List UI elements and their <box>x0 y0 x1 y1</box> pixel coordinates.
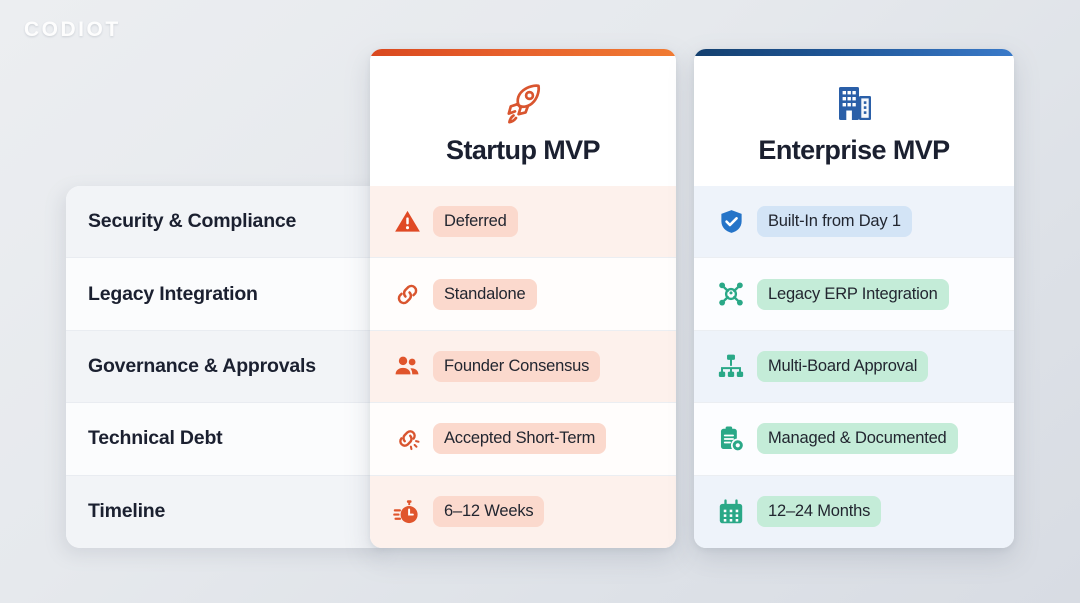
cell-enterprise-techdebt: Managed & Documented <box>694 403 1014 475</box>
calendar-icon <box>716 497 746 527</box>
criteria-row-governance: Governance & Approvals <box>66 331 388 403</box>
card-header-enterprise: Enterprise MVP <box>694 56 1014 186</box>
value-badge: Managed & Documented <box>757 423 958 454</box>
criteria-row-legacy: Legacy Integration <box>66 258 388 330</box>
criteria-row-techdebt: Technical Debt <box>66 403 388 475</box>
value-badge: Standalone <box>433 279 537 310</box>
criteria-label: Governance & Approvals <box>88 355 316 378</box>
cell-startup-governance: Founder Consensus <box>370 331 676 403</box>
column-card-enterprise-mvp[interactable]: Enterprise MVP Built-In from Day 1 <box>694 49 1014 548</box>
value-badge: Multi-Board Approval <box>757 351 928 382</box>
office-building-icon <box>830 77 878 129</box>
value-badge: 12–24 Months <box>757 496 881 527</box>
card-accent-bar-startup <box>370 49 676 56</box>
card-header-startup: Startup MVP <box>370 56 676 186</box>
value-badge: Built-In from Day 1 <box>757 206 912 237</box>
network-hub-icon <box>716 279 746 309</box>
cell-startup-techdebt: Accepted Short-Term <box>370 403 676 475</box>
criteria-label-column: Security & Compliance Legacy Integration… <box>66 186 388 548</box>
cell-enterprise-security: Built-In from Day 1 <box>694 186 1014 258</box>
criteria-row-security: Security & Compliance <box>66 186 388 258</box>
shield-check-icon <box>716 207 746 237</box>
card-title-enterprise: Enterprise MVP <box>758 135 949 166</box>
criteria-label: Technical Debt <box>88 427 222 450</box>
cell-enterprise-timeline: 12–24 Months <box>694 476 1014 548</box>
cell-startup-security: Deferred <box>370 186 676 258</box>
cell-enterprise-legacy: Legacy ERP Integration <box>694 258 1014 330</box>
value-badge: Legacy ERP Integration <box>757 279 949 310</box>
stopwatch-icon <box>392 497 422 527</box>
org-chart-icon <box>716 351 746 381</box>
value-badge: 6–12 Weeks <box>433 496 544 527</box>
rocket-icon <box>499 77 547 129</box>
column-card-startup-mvp[interactable]: Startup MVP Deferred Standalone <box>370 49 676 548</box>
value-badge: Accepted Short-Term <box>433 423 606 454</box>
cell-startup-timeline: 6–12 Weeks <box>370 476 676 548</box>
criteria-label: Timeline <box>88 500 165 523</box>
card-title-startup: Startup MVP <box>446 135 600 166</box>
criteria-label: Security & Compliance <box>88 210 296 233</box>
criteria-row-timeline: Timeline <box>66 476 388 548</box>
value-badge: Founder Consensus <box>433 351 600 382</box>
cell-startup-legacy: Standalone <box>370 258 676 330</box>
card-accent-bar-enterprise <box>694 49 1014 56</box>
link-chain-icon <box>392 279 422 309</box>
warning-triangle-icon <box>392 207 422 237</box>
cell-enterprise-governance: Multi-Board Approval <box>694 331 1014 403</box>
people-group-icon <box>392 351 422 381</box>
criteria-label: Legacy Integration <box>88 283 258 306</box>
comparison-matrix: Security & Compliance Legacy Integration… <box>0 0 1080 603</box>
value-badge: Deferred <box>433 206 518 237</box>
clipboard-gear-icon <box>716 424 746 454</box>
broken-link-icon <box>392 424 422 454</box>
